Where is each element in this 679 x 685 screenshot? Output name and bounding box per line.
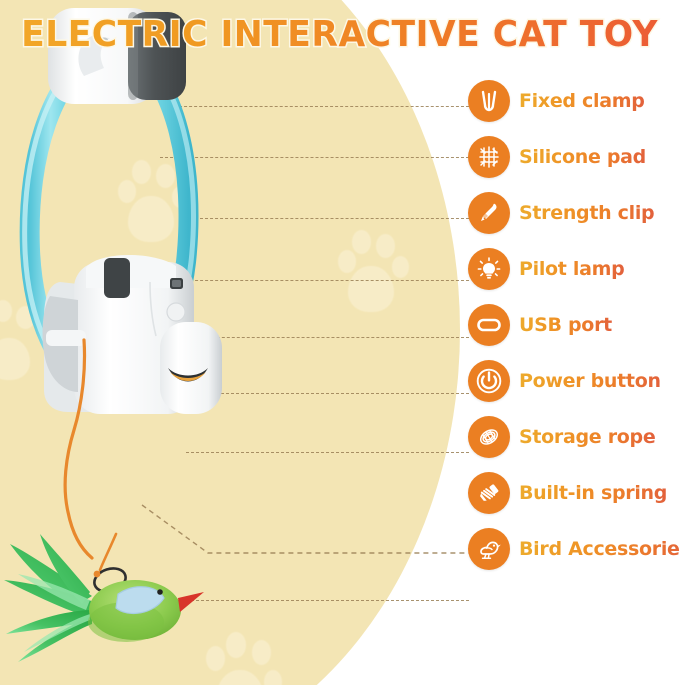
- infographic-canvas: ELECTRIC INTERACTIVE CAT TOY ELECTRIC IN…: [0, 0, 679, 685]
- feature-item-power-button: Power button: [468, 358, 679, 404]
- feature-label: Storage rope: [519, 426, 655, 448]
- strength-clip-icon: [468, 192, 510, 234]
- feature-item-pilot-lamp: Pilot lamp: [468, 246, 679, 292]
- bird-accessory-illustration: [0, 530, 215, 680]
- page-title: ELECTRIC INTERACTIVE CAT TOY: [14, 14, 666, 55]
- spring-icon: [468, 472, 510, 514]
- clamp-icon: [468, 80, 510, 122]
- feature-item-bird-accessories: Bird Accessories: [468, 526, 679, 572]
- feature-label: Silicone pad: [519, 146, 646, 168]
- leader-line-bird-accessories: [176, 600, 469, 601]
- feature-item-storage-rope: Storage rope: [468, 414, 679, 460]
- feature-label: Built-in spring: [519, 482, 667, 504]
- lightbulb-icon: [468, 248, 510, 290]
- feature-label: Bird Accessories: [519, 538, 679, 560]
- mesh-pad-icon: [468, 136, 510, 178]
- feature-item-usb-port: USB port: [468, 302, 679, 348]
- usb-port-icon: [468, 304, 510, 346]
- product-illustration: [0, 0, 300, 560]
- feature-item-built-in-spring: Built-in spring: [468, 470, 679, 516]
- feature-label: Strength clip: [519, 202, 654, 224]
- power-button-icon: [468, 360, 510, 402]
- paw-print-upper-right: [340, 230, 410, 325]
- feature-label: Power button: [519, 370, 661, 392]
- feature-item-fixed-clamp: Fixed clamp: [468, 78, 679, 124]
- rope-coil-icon: [468, 416, 510, 458]
- paw-print-bottom: [212, 632, 284, 685]
- bird-icon: [468, 528, 510, 570]
- feature-label: Pilot lamp: [519, 258, 624, 280]
- feature-label: Fixed clamp: [519, 90, 645, 112]
- feature-label: USB port: [519, 314, 612, 336]
- feature-item-strength-clip: Strength clip: [468, 190, 679, 236]
- feature-list: Fixed clamp Silicone pad: [468, 78, 679, 582]
- feature-item-silicone-pad: Silicone pad: [468, 134, 679, 180]
